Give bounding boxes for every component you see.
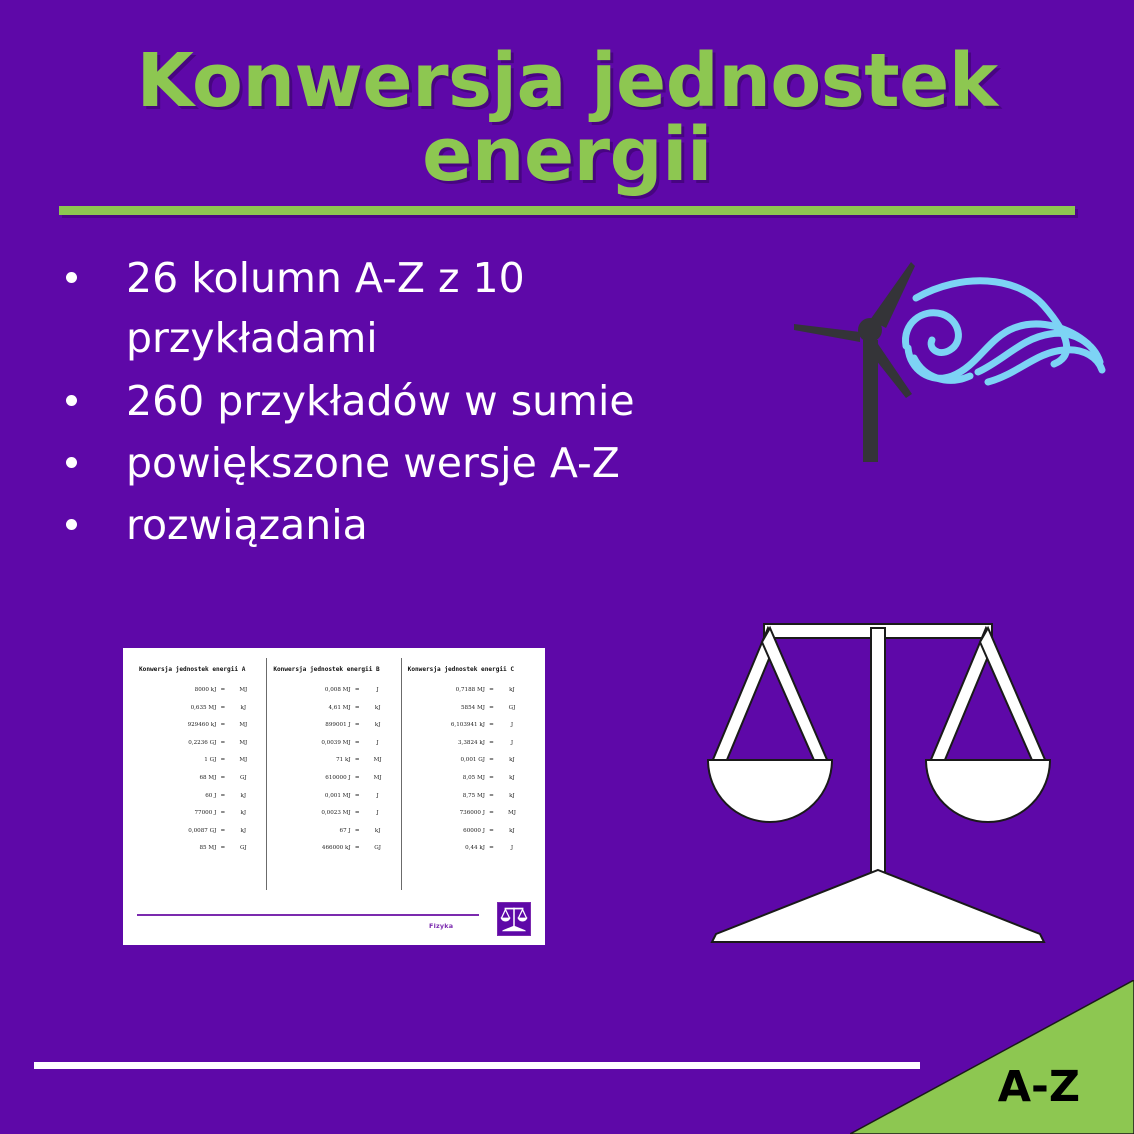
- row-unit: kJ: [226, 810, 260, 816]
- row-unit: J: [361, 793, 395, 799]
- table-row: 71 kJ=MJ: [273, 757, 394, 775]
- row-unit: J: [495, 722, 529, 728]
- worksheet-column-a: Konwersja jednostek energii A 8000 kJ=MJ…: [133, 658, 266, 890]
- worksheet-columns: Konwersja jednostek energii A 8000 kJ=MJ…: [133, 658, 535, 890]
- row-equals: =: [219, 687, 226, 693]
- row-value: 899001 J: [273, 722, 353, 728]
- row-equals: =: [354, 828, 361, 834]
- row-unit: MJ: [226, 687, 260, 693]
- row-unit: kJ: [495, 828, 529, 834]
- table-row: 5854 MJ=GJ: [408, 705, 529, 723]
- row-equals: =: [354, 740, 361, 746]
- table-row: 0,7188 MJ=kJ: [408, 687, 529, 705]
- page-title-block: Konwersja jednostek energii: [0, 44, 1134, 215]
- row-value: 60 J: [139, 793, 219, 799]
- row-unit: MJ: [361, 775, 395, 781]
- row-unit: kJ: [226, 793, 260, 799]
- row-unit: kJ: [226, 828, 260, 834]
- row-unit: GJ: [226, 845, 260, 851]
- table-row: 466000 kJ=GJ: [273, 845, 394, 863]
- table-row: 6,103941 kJ=J: [408, 722, 529, 740]
- table-row: 610000 J=MJ: [273, 775, 394, 793]
- row-equals: =: [488, 828, 495, 834]
- worksheet-footer-rule: [137, 914, 479, 916]
- row-value: 0,008 MJ: [273, 687, 353, 693]
- row-value: 85 MJ: [139, 845, 219, 851]
- row-unit: GJ: [361, 845, 395, 851]
- row-value: 466000 kJ: [273, 845, 353, 851]
- row-unit: kJ: [361, 722, 395, 728]
- worksheet-rows: 8000 kJ=MJ 0,635 MJ=kJ 929460 kJ=MJ 0,22…: [139, 687, 260, 863]
- table-row: 68 MJ=GJ: [139, 775, 260, 793]
- row-equals: =: [354, 722, 361, 728]
- row-value: 5854 MJ: [408, 705, 488, 711]
- slide-root: Konwersja jednostek energii 26 kolumn A-…: [0, 0, 1134, 1134]
- row-equals: =: [488, 705, 495, 711]
- row-equals: =: [354, 810, 361, 816]
- row-unit: kJ: [495, 687, 529, 693]
- table-row: 60 J=kJ: [139, 793, 260, 811]
- row-value: 77000 J: [139, 810, 219, 816]
- worksheet-footer: Fizyka: [133, 892, 535, 944]
- table-row: 929460 kJ=MJ: [139, 722, 260, 740]
- row-value: 0,0023 MJ: [273, 810, 353, 816]
- row-equals: =: [219, 845, 226, 851]
- row-equals: =: [488, 722, 495, 728]
- table-row: 8,05 MJ=kJ: [408, 775, 529, 793]
- row-equals: =: [488, 793, 495, 799]
- row-unit: J: [495, 740, 529, 746]
- table-row: 77000 J=kJ: [139, 810, 260, 828]
- row-equals: =: [354, 775, 361, 781]
- worksheet-rows: 0,7188 MJ=kJ 5854 MJ=GJ 6,103941 kJ=J 3,…: [408, 687, 529, 863]
- table-row: 0,635 MJ=kJ: [139, 705, 260, 723]
- row-unit: MJ: [226, 722, 260, 728]
- page-title: Konwersja jednostek energii: [0, 44, 1134, 198]
- corner-label: A-Z: [998, 1062, 1080, 1112]
- row-value: 8000 kJ: [139, 687, 219, 693]
- row-value: 0,0087 GJ: [139, 828, 219, 834]
- row-value: 0,635 MJ: [139, 705, 219, 711]
- row-value: 8,05 MJ: [408, 775, 488, 781]
- table-row: 3,3824 kJ=J: [408, 740, 529, 758]
- row-equals: =: [219, 740, 226, 746]
- row-equals: =: [354, 705, 361, 711]
- row-unit: kJ: [361, 828, 395, 834]
- bottom-divider: [34, 1062, 920, 1069]
- balance-scale-icon: [700, 602, 1056, 958]
- table-row: 85 MJ=GJ: [139, 845, 260, 863]
- row-unit: kJ: [361, 705, 395, 711]
- row-equals: =: [219, 775, 226, 781]
- row-unit: MJ: [226, 740, 260, 746]
- row-equals: =: [488, 740, 495, 746]
- row-equals: =: [219, 705, 226, 711]
- worksheet-subject-label: Fizyka: [429, 922, 453, 930]
- table-row: 8000 kJ=MJ: [139, 687, 260, 705]
- row-equals: =: [488, 810, 495, 816]
- worksheet-column-b: Konwersja jednostek energii B 0,008 MJ=J…: [266, 658, 400, 890]
- row-unit: GJ: [495, 705, 529, 711]
- row-unit: GJ: [226, 775, 260, 781]
- worksheet-column-c: Konwersja jednostek energii C 0,7188 MJ=…: [401, 658, 535, 890]
- row-equals: =: [219, 810, 226, 816]
- row-value: 0,0039 MJ: [273, 740, 353, 746]
- row-value: 0,44 kJ: [408, 845, 488, 851]
- wind-turbine-icon: [782, 252, 1112, 484]
- row-value: 4,61 MJ: [273, 705, 353, 711]
- table-row: 4,61 MJ=kJ: [273, 705, 394, 723]
- table-row: 0,0087 GJ=kJ: [139, 828, 260, 846]
- worksheet-preview-card: Konwersja jednostek energii A 8000 kJ=MJ…: [123, 648, 545, 945]
- table-row: 67 J=kJ: [273, 828, 394, 846]
- row-value: 67 J: [273, 828, 353, 834]
- row-unit: MJ: [361, 757, 395, 763]
- row-equals: =: [219, 828, 226, 834]
- row-value: 71 kJ: [273, 757, 353, 763]
- list-item: rozwiązania: [52, 495, 752, 555]
- balance-scale-badge-icon: [497, 902, 531, 936]
- table-row: 60000 J=kJ: [408, 828, 529, 846]
- row-unit: MJ: [495, 810, 529, 816]
- row-unit: kJ: [495, 757, 529, 763]
- table-row: 736000 J=MJ: [408, 810, 529, 828]
- row-value: 0,001 GJ: [408, 757, 488, 763]
- row-unit: kJ: [226, 705, 260, 711]
- row-value: 3,3824 kJ: [408, 740, 488, 746]
- table-row: 0,001 GJ=kJ: [408, 757, 529, 775]
- row-equals: =: [219, 757, 226, 763]
- list-item: powiększone wersje A-Z: [52, 433, 752, 493]
- table-row: 0,0023 MJ=J: [273, 810, 394, 828]
- row-equals: =: [354, 757, 361, 763]
- row-value: 736000 J: [408, 810, 488, 816]
- row-value: 0,001 MJ: [273, 793, 353, 799]
- row-equals: =: [354, 845, 361, 851]
- worksheet-column-header: Konwersja jednostek energii A: [139, 666, 260, 673]
- list-item: 26 kolumn A-Z z 10 przykładami: [52, 248, 752, 369]
- row-equals: =: [488, 687, 495, 693]
- row-value: 0,7188 MJ: [408, 687, 488, 693]
- row-equals: =: [219, 722, 226, 728]
- table-row: 0,44 kJ=J: [408, 845, 529, 863]
- list-item: 260 przykładów w sumie: [52, 371, 752, 431]
- row-unit: J: [361, 687, 395, 693]
- row-unit: J: [361, 740, 395, 746]
- row-value: 8,75 MJ: [408, 793, 488, 799]
- bullet-dot-icon: [66, 457, 77, 468]
- list-item-label: rozwiązania: [126, 501, 368, 549]
- table-row: 0,0039 MJ=J: [273, 740, 394, 758]
- list-item-label: 260 przykładów w sumie: [126, 377, 635, 425]
- row-value: 929460 kJ: [139, 722, 219, 728]
- table-row: 0,001 MJ=J: [273, 793, 394, 811]
- table-row: 8,75 MJ=kJ: [408, 793, 529, 811]
- table-row: 0,008 MJ=J: [273, 687, 394, 705]
- row-value: 1 GJ: [139, 757, 219, 763]
- bullet-dot-icon: [66, 395, 77, 406]
- row-equals: =: [488, 845, 495, 851]
- row-equals: =: [488, 757, 495, 763]
- row-equals: =: [488, 775, 495, 781]
- worksheet-column-header: Konwersja jednostek energii B: [273, 666, 394, 673]
- row-unit: MJ: [226, 757, 260, 763]
- bullet-dot-icon: [66, 519, 77, 530]
- table-row: 0,2236 GJ=MJ: [139, 740, 260, 758]
- row-value: 68 MJ: [139, 775, 219, 781]
- corner-badge: A-Z: [850, 980, 1134, 1134]
- row-unit: J: [495, 845, 529, 851]
- list-item-label: 26 kolumn A-Z z 10 przykładami: [126, 254, 525, 362]
- row-value: 0,2236 GJ: [139, 740, 219, 746]
- row-value: 610000 J: [273, 775, 353, 781]
- row-unit: kJ: [495, 775, 529, 781]
- row-equals: =: [354, 793, 361, 799]
- worksheet-rows: 0,008 MJ=J 4,61 MJ=kJ 899001 J=kJ 0,0039…: [273, 687, 394, 863]
- list-item-label: powiększone wersje A-Z: [126, 439, 620, 487]
- row-equals: =: [354, 687, 361, 693]
- row-value: 60000 J: [408, 828, 488, 834]
- table-row: 899001 J=kJ: [273, 722, 394, 740]
- feature-bullet-list: 26 kolumn A-Z z 10 przykładami 260 przyk…: [52, 248, 752, 557]
- title-underline: [59, 206, 1075, 215]
- row-equals: =: [219, 793, 226, 799]
- bullet-dot-icon: [66, 272, 77, 283]
- table-row: 1 GJ=MJ: [139, 757, 260, 775]
- row-unit: kJ: [495, 793, 529, 799]
- worksheet-column-header: Konwersja jednostek energii C: [408, 666, 529, 673]
- row-value: 6,103941 kJ: [408, 722, 488, 728]
- row-unit: J: [361, 810, 395, 816]
